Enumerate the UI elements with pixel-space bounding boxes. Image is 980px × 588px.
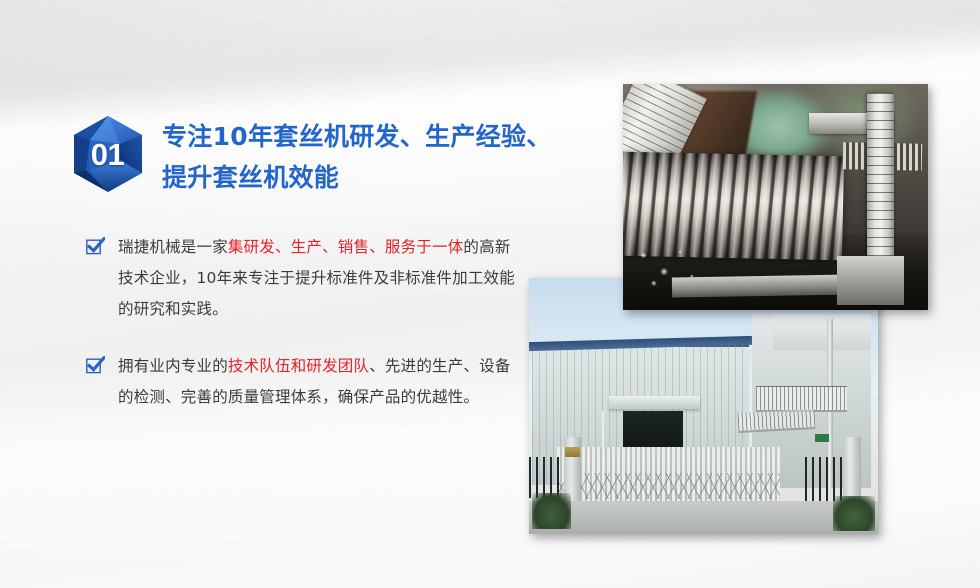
headline-row: 01 专注10年套丝机研发、生产经验、 提升套丝机效能 — [70, 112, 525, 198]
checkbox-check-icon — [86, 237, 105, 256]
exit-sign — [815, 434, 829, 442]
bush-right — [833, 496, 875, 532]
coolant-splash — [629, 238, 702, 297]
text-segment-highlight: 技术队伍和研发团队 — [228, 357, 369, 375]
list-item-text: 拥有业内专业的技术队伍和研发团队、先进的生产、设备的检测、完善的质量管理体系，确… — [118, 351, 525, 413]
threading-machine-closeup-photo — [623, 84, 928, 310]
headline-line-1: 专注10年套丝机研发、生产经验、 — [162, 116, 552, 157]
feature-list: 瑞捷机械是一家集研发、生产、销售、服务于一体的高新技术企业，10年来专注于提升标… — [70, 232, 525, 413]
balcony-railing-lower — [738, 409, 816, 433]
promo-banner: 01 专注10年套丝机研发、生产经验、 提升套丝机效能 瑞捷机械是一家集研发、生… — [0, 0, 980, 588]
headline: 专注10年套丝机研发、生产经验、 提升套丝机效能 — [162, 112, 552, 198]
list-item: 瑞捷机械是一家集研发、生产、销售、服务于一体的高新技术企业，10年来专注于提升标… — [86, 232, 525, 325]
text-segment-highlight: 集研发、生产、销售、服务于一体 — [228, 238, 464, 256]
door-canopy — [609, 396, 700, 409]
step-number-badge: 01 — [70, 114, 146, 194]
factory-building-photo — [529, 278, 878, 534]
list-item: 拥有业内专业的技术队伍和研发团队、先进的生产、设备的检测、完善的质量管理体系，确… — [86, 351, 525, 413]
sliding-gate — [557, 447, 780, 503]
list-item-text: 瑞捷机械是一家集研发、生产、销售、服务于一体的高新技术企业，10年来专注于提升标… — [118, 232, 525, 325]
badge-number: 01 — [70, 114, 146, 194]
bush-left — [532, 493, 570, 529]
office-roof — [773, 314, 871, 350]
text-segment: 拥有业内专业的 — [118, 357, 228, 375]
balcony-railing-upper — [756, 386, 847, 412]
company-plaque — [565, 447, 580, 457]
caliper-base — [837, 256, 904, 306]
headline-line-2: 提升套丝机效能 — [162, 157, 552, 198]
text-segment: 瑞捷机械是一家 — [118, 238, 228, 256]
checkbox-check-icon — [86, 356, 105, 375]
ground-pavement — [529, 501, 878, 534]
content-column: 01 专注10年套丝机研发、生产经验、 提升套丝机效能 瑞捷机械是一家集研发、生… — [70, 112, 525, 413]
